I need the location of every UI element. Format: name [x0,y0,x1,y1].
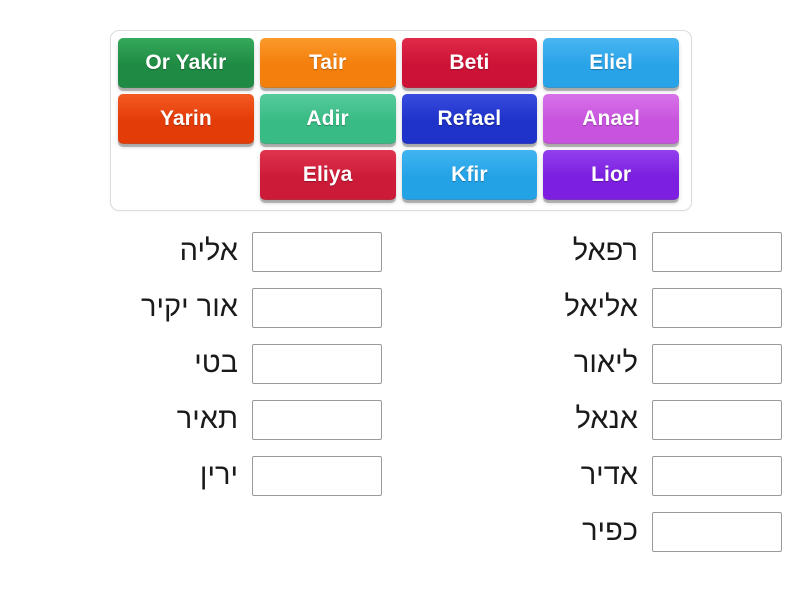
tile-cell: Beti [402,38,544,94]
tile-cell: Lior [543,150,685,206]
question-row: אדיר [400,448,800,504]
name-tile-kfir[interactable]: Kfir [402,150,538,200]
answer-input-anael[interactable] [652,400,782,440]
question-row: ירין [0,448,400,504]
answer-input-beti[interactable] [252,344,382,384]
answer-input-or-yakir[interactable] [252,288,382,328]
answer-input-eliya[interactable] [252,232,382,272]
question-label-kfir: כפיר [582,516,652,548]
answer-input-eliel[interactable] [652,288,782,328]
question-label-eliya: אליה [180,236,252,268]
question-row: תאיר [0,392,400,448]
tile-cell: Refael [402,94,544,150]
name-tile-or-yakir[interactable]: Or Yakir [118,38,254,88]
question-label-beti: בטי [194,348,252,380]
name-tile-yarin[interactable]: Yarin [118,94,254,144]
empty-tile-slot [118,150,254,200]
question-column-left: אליה אור יקיר בטי תאיר ירין [0,224,400,560]
answer-input-tair[interactable] [252,400,382,440]
question-label-refael: רפאל [573,236,652,268]
tile-cell: Eliel [543,38,685,94]
question-label-tair: תאיר [177,404,252,436]
tile-cell: Or Yakir [118,38,260,94]
name-tile-tair[interactable]: Tair [260,38,396,88]
question-label-lior: ליאור [574,348,652,380]
tile-cell: Yarin [118,94,260,150]
answer-input-kfir[interactable] [652,512,782,552]
tile-bank: Or Yakir Tair Beti Eliel Yarin Adir Refa… [110,30,692,211]
question-row: רפאל [400,224,800,280]
tile-row: Yarin Adir Refael Anael [118,94,685,150]
name-tile-adir[interactable]: Adir [260,94,396,144]
activity-stage: Or Yakir Tair Beti Eliel Yarin Adir Refa… [0,0,800,600]
question-row: בטי [0,336,400,392]
tile-cell: Tair [260,38,402,94]
question-label-anael: אנאל [576,404,653,436]
tile-cell: Anael [543,94,685,150]
tile-cell: Eliya [260,150,402,206]
question-row: כפיר [400,504,800,560]
question-column-right: רפאל אליאל ליאור אנאל אדיר כפיר [400,224,800,560]
name-tile-anael[interactable]: Anael [543,94,679,144]
name-tile-eliya[interactable]: Eliya [260,150,396,200]
question-label-yarin: ירין [200,460,252,492]
tile-cell [118,150,260,206]
tile-row: Or Yakir Tair Beti Eliel [118,38,685,94]
question-row: אור יקיר [0,280,400,336]
question-row: ליאור [400,336,800,392]
name-tile-refael[interactable]: Refael [402,94,538,144]
answer-input-refael[interactable] [652,232,782,272]
question-row: אליאל [400,280,800,336]
answer-input-yarin[interactable] [252,456,382,496]
question-label-adir: אדיר [581,460,652,492]
answer-input-lior[interactable] [652,344,782,384]
tile-row: Eliya Kfir Lior [118,150,685,206]
answer-input-adir[interactable] [652,456,782,496]
tile-cell: Kfir [402,150,544,206]
name-tile-eliel[interactable]: Eliel [543,38,679,88]
name-tile-lior[interactable]: Lior [543,150,679,200]
question-row: אליה [0,224,400,280]
question-columns: אליה אור יקיר בטי תאיר ירין רפאל [0,224,800,560]
name-tile-beti[interactable]: Beti [402,38,538,88]
question-label-or-yakir: אור יקיר [141,292,252,324]
tile-cell: Adir [260,94,402,150]
question-row: אנאל [400,392,800,448]
question-label-eliel: אליאל [564,292,652,324]
